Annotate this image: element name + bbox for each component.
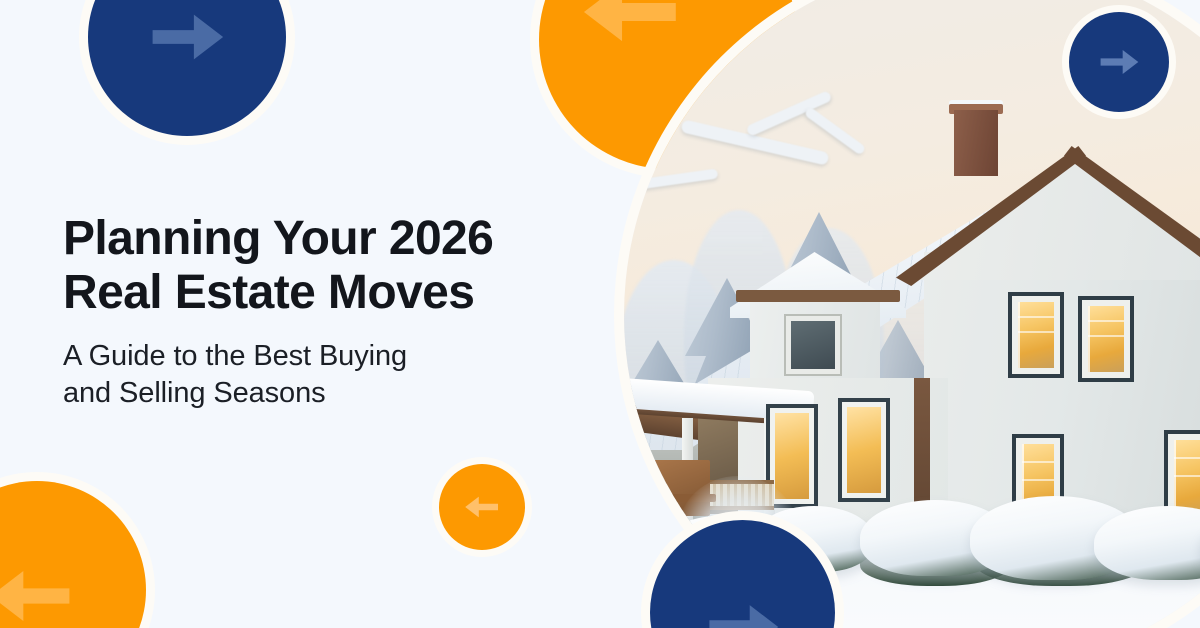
porch-window <box>842 402 886 498</box>
arrow-left-icon <box>462 487 502 527</box>
circle-orange-bottomleft <box>0 481 146 628</box>
upper-window <box>1012 296 1060 374</box>
arrow-left-icon <box>0 548 79 628</box>
subheadline: A Guide to the Best Buying and Selling S… <box>63 338 603 412</box>
headline: Planning Your 2026 Real Estate Moves <box>63 212 603 320</box>
arrow-right-icon <box>1096 39 1142 85</box>
dormer-trim <box>736 290 900 302</box>
arrow-right-icon <box>144 0 230 80</box>
circle-orange-small <box>439 464 525 550</box>
chimney <box>954 110 998 176</box>
circle-navy-topleft <box>88 0 286 136</box>
upper-window <box>1082 300 1130 378</box>
dormer-window <box>786 316 840 374</box>
arrow-right-icon <box>701 585 785 628</box>
text-block: Planning Your 2026 Real Estate Moves A G… <box>63 212 603 412</box>
promo-banner: Planning Your 2026 Real Estate Moves A G… <box>0 0 1200 628</box>
circle-navy-topright <box>1069 12 1169 112</box>
